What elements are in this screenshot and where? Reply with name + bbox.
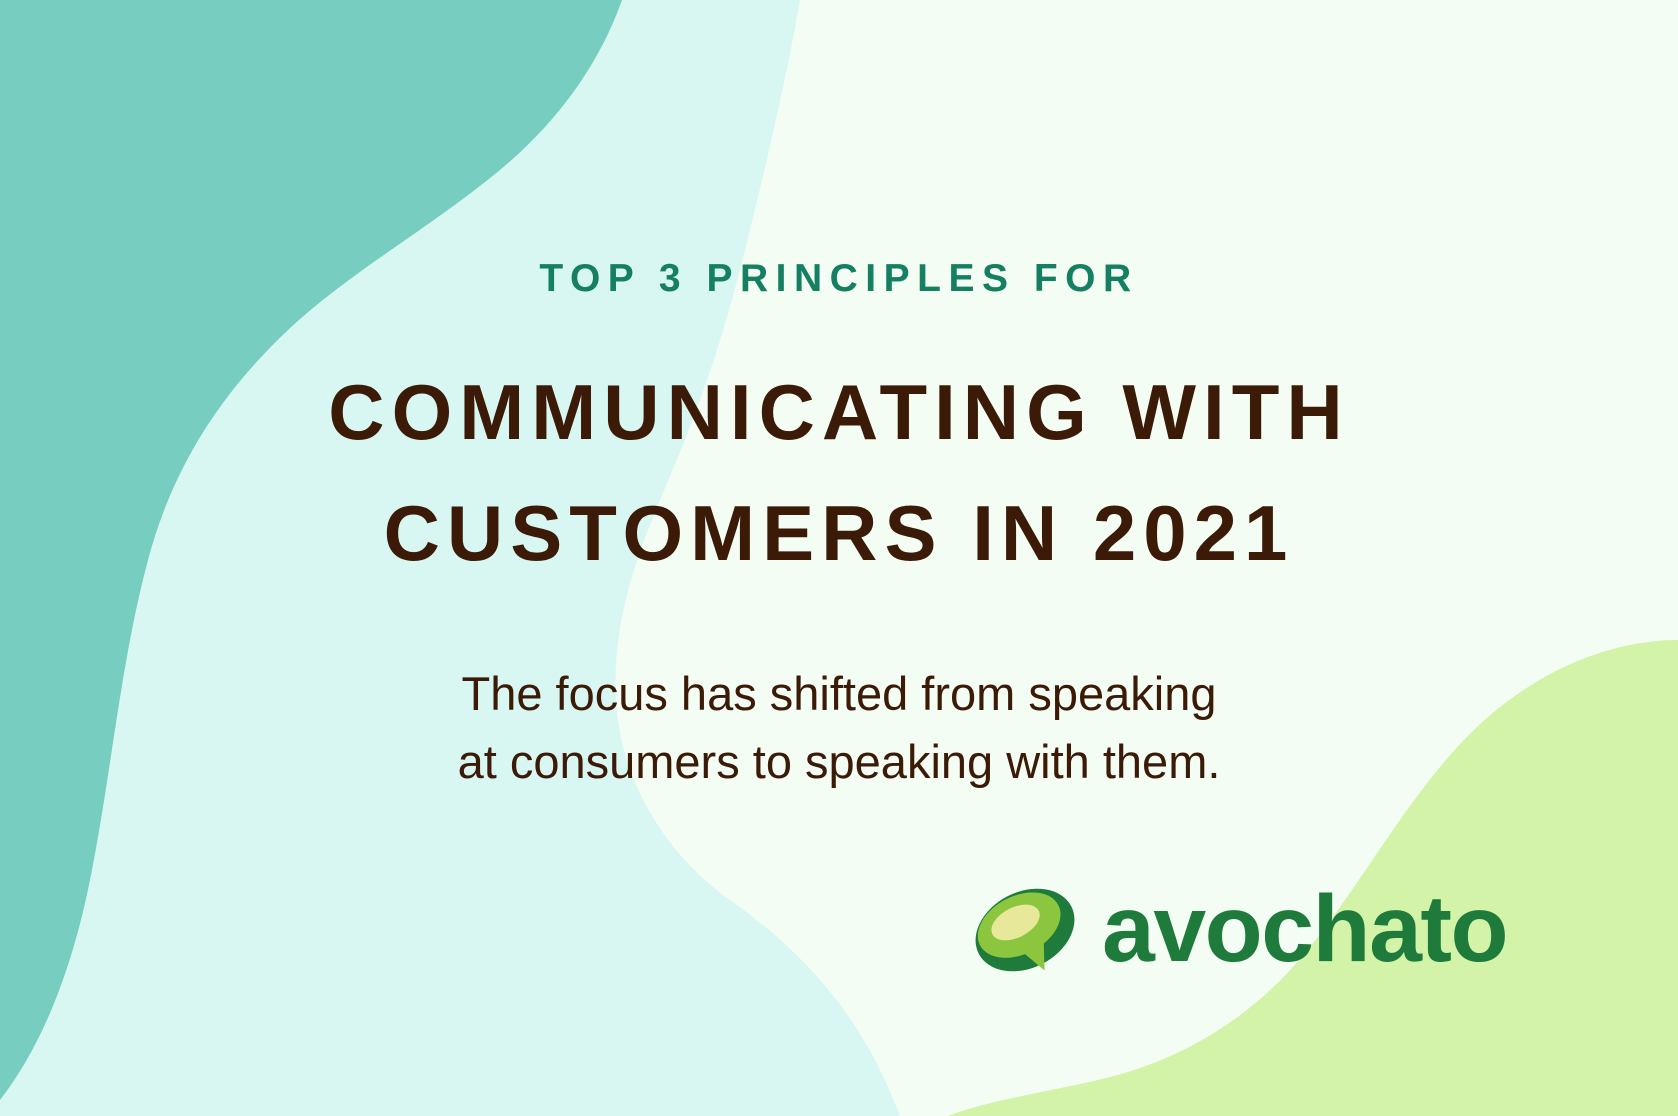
avochato-wordmark: avochato xyxy=(1102,882,1507,977)
subtitle: The focus has shifted from speaking at c… xyxy=(0,660,1678,796)
page-title: COMMUNICATING WITH CUSTOMERS IN 2021 xyxy=(0,352,1678,594)
poster-content: TOP 3 PRINCIPLES FOR COMMUNICATING WITH … xyxy=(0,0,1678,1116)
subtitle-line-1: The focus has shifted from speaking xyxy=(0,660,1678,728)
headline-line-1: COMMUNICATING WITH xyxy=(0,352,1678,473)
subtitle-line-2: at consumers to speaking with them. xyxy=(0,728,1678,796)
poster-canvas: TOP 3 PRINCIPLES FOR COMMUNICATING WITH … xyxy=(0,0,1678,1116)
headline-line-2: CUSTOMERS IN 2021 xyxy=(0,473,1678,594)
brand-logo-lockup: avochato xyxy=(970,872,1490,987)
avocado-speech-bubble-icon xyxy=(970,875,1080,985)
eyebrow-kicker: TOP 3 PRINCIPLES FOR xyxy=(0,258,1678,301)
